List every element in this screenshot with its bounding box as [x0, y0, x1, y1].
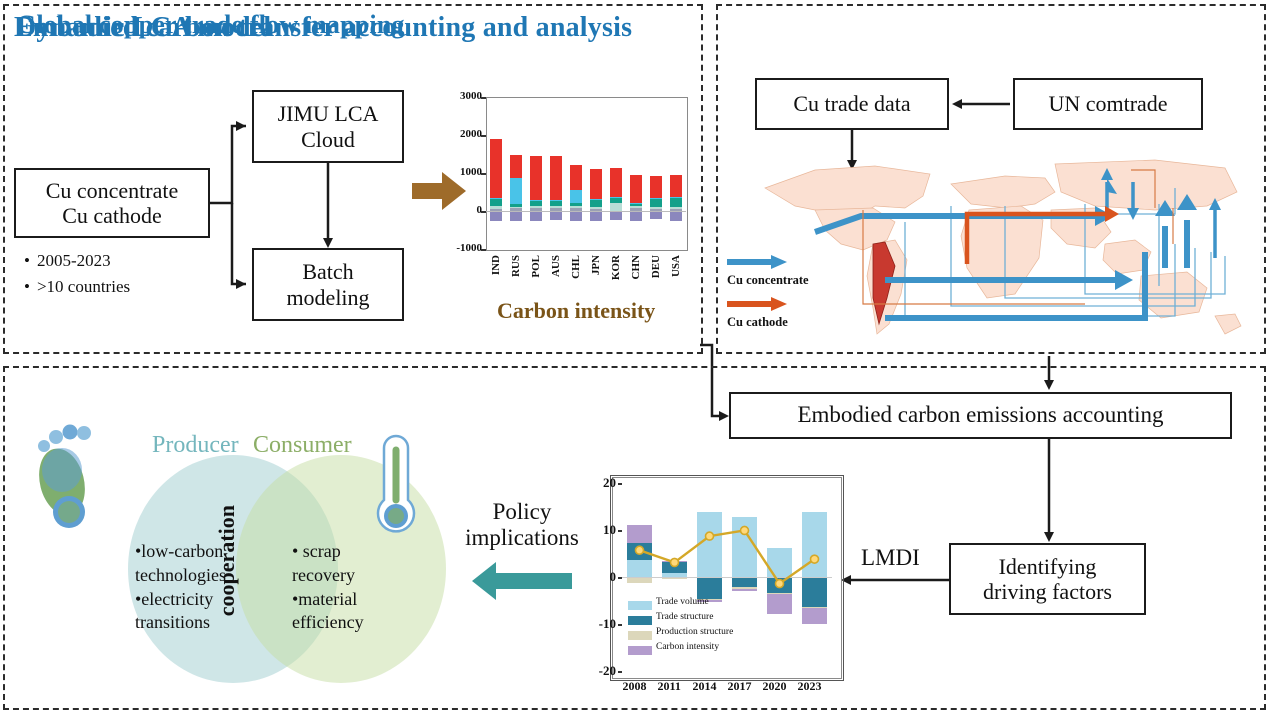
carbon-bar-segment	[530, 200, 542, 206]
box-embodied-carbon-emissions-accounting[interactable]: Embodied carbon emissions accounting	[729, 392, 1232, 439]
lmdi-bar-segment	[662, 561, 687, 573]
box-cu-concentrate-cathode[interactable]: Cu concentrate Cu cathode	[14, 168, 210, 238]
venn-producer-item-1: technologies	[135, 564, 226, 588]
carbon-bar-segment	[530, 211, 542, 221]
lmdi-bar-segment	[627, 543, 652, 560]
venn-producer-item-0: •low-carbon	[135, 540, 226, 564]
box-cu-label: Cu concentrate Cu cathode	[46, 178, 179, 229]
lmdi-xtick-2011: 2011	[658, 679, 681, 694]
map-legend-row-concentrate	[727, 254, 809, 271]
carbon-bar-segment	[590, 207, 602, 209]
lmdi-legend-swatch	[628, 646, 652, 655]
carbon-bar-segment	[490, 211, 502, 221]
lmdi-bar-segment	[627, 525, 652, 543]
carbon-bar-segment	[590, 211, 602, 221]
lmdi-bar-segment	[627, 560, 652, 577]
lmdi-ytick-20: 20	[588, 475, 616, 491]
lmdi-zero-line	[622, 577, 832, 578]
carbon-bar-segment	[630, 211, 642, 221]
carbon-bar-segment	[610, 197, 622, 198]
panel-title-embodied-carbon: Embodied carbon transfer accounting and …	[14, 12, 632, 44]
carbon-bar-segment	[510, 207, 522, 209]
box-cu-trade-data[interactable]: Cu trade data	[755, 78, 949, 130]
venn-consumer-item-0: • scrap	[292, 540, 364, 564]
lmdi-ytick-10: 10	[588, 522, 616, 538]
lmdi-ytick-mark	[618, 624, 622, 626]
lmdi-ytick--20: -20	[588, 663, 616, 679]
box-identifying-driving-factors[interactable]: Identifying driving factors	[949, 543, 1146, 615]
thermometer-icon	[352, 428, 418, 540]
carbon-bar-segment	[650, 198, 662, 199]
lmdi-bar-segment	[802, 512, 827, 577]
carbon-bar-segment	[590, 199, 602, 200]
carbon-bar-segment	[630, 175, 642, 204]
lmdi-bar-segment	[732, 577, 757, 587]
lmdi-bar-segment	[802, 608, 827, 624]
venn-producer-item-2: •electricity	[135, 588, 226, 612]
carbon-bar-segment	[650, 207, 662, 209]
lmdi-xtick-2023: 2023	[798, 679, 822, 694]
lmdi-ytick-mark	[618, 671, 622, 673]
map-legend-label-cathode: Cu cathode	[727, 315, 809, 330]
venn-consumer-item-1: recovery	[292, 564, 364, 588]
lmdi-bar-segment	[767, 548, 792, 577]
carbon-bar-segment	[490, 206, 502, 208]
carbon-ytick-1000: 1000	[438, 166, 482, 178]
carbon-bar-segment	[630, 203, 642, 204]
lmdi-bar-segment	[802, 577, 827, 607]
lmdi-ytick-mark	[618, 483, 622, 485]
carbon-bar-segment	[510, 211, 522, 221]
carbon-bar-segment	[570, 165, 582, 190]
lmdi-bar-segment	[732, 517, 757, 577]
carbon-ytick--1000: -1000	[438, 242, 482, 254]
box-un-comtrade[interactable]: UN comtrade	[1013, 78, 1203, 130]
lmdi-bar-segment	[697, 512, 722, 577]
carbon-bar-segment	[530, 200, 542, 201]
carbon-bar-segment	[610, 168, 622, 197]
carbon-bar-segment	[510, 155, 522, 179]
lmdi-legend-label: Trade volume	[656, 597, 709, 607]
lmdi-ytick-mark	[618, 530, 622, 532]
venn-title-consumer: Consumer	[253, 432, 352, 459]
lmdi-xtick-2014: 2014	[693, 679, 717, 694]
venn-producer-item-3: transitions	[135, 611, 226, 635]
carbon-bar-segment	[570, 203, 582, 206]
policy-implications-label: Policy implications	[452, 499, 592, 552]
box-un-comtrade-label: UN comtrade	[1048, 91, 1167, 116]
lmdi-arrow-label: LMDI	[861, 545, 920, 571]
carbon-bar-segment	[590, 169, 602, 199]
carbon-bar-segment	[550, 156, 562, 200]
lmdi-xtick-2008: 2008	[623, 679, 647, 694]
carbon-bar-segment	[610, 198, 622, 203]
venn-consumer-items: • scrap recovery •material efficiency	[292, 540, 364, 635]
venn-consumer-item-3: efficiency	[292, 611, 364, 635]
carbon-bar-segment	[570, 211, 582, 221]
lmdi-xtick-2020: 2020	[763, 679, 787, 694]
box-driving-label: Identifying driving factors	[983, 554, 1112, 605]
world-map-trade-flows	[755, 148, 1255, 343]
carbon-ytick-2000: 2000	[438, 128, 482, 140]
lmdi-bar-segment	[697, 577, 722, 599]
carbon-bar-segment	[510, 178, 522, 204]
lmdi-xtick-2017: 2017	[728, 679, 752, 694]
carbon-bar-segment	[610, 211, 622, 220]
carbon-xtick-POL: POL	[530, 255, 542, 278]
venn-title-producer: Producer	[152, 432, 239, 459]
carbon-xtick-JPN: JPN	[590, 255, 602, 275]
lmdi-bar-segment	[767, 577, 792, 593]
carbon-bar-segment	[550, 201, 562, 207]
carbon-bar-segment	[530, 206, 542, 208]
carbon-xtick-DEU: DEU	[650, 255, 662, 278]
lmdi-legend-label: Trade structure	[656, 612, 713, 622]
carbon-bar-segment	[630, 204, 642, 206]
lmdi-legend-swatch	[628, 631, 652, 640]
lca-bullet-years: 2005-2023	[24, 248, 130, 274]
carbon-bar-segment	[550, 206, 562, 208]
carbon-bar-segment	[510, 204, 522, 207]
lca-bullet-countries: >10 countries	[24, 274, 130, 300]
carbon-bar-segment	[490, 139, 502, 198]
carbon-bar-segment	[530, 156, 542, 200]
carbon-xtick-KOR: KOR	[610, 255, 622, 280]
cu-concentrate-arrow-icon	[727, 254, 789, 270]
carbon-bar-segment	[650, 211, 662, 219]
lmdi-legend-label: Production structure	[656, 627, 733, 637]
lmdi-ytick-0: 0	[588, 569, 616, 585]
carbon-xtick-IND: IND	[490, 255, 502, 275]
venn-producer-items: •low-carbon technologies •electricity tr…	[135, 540, 226, 635]
lca-bullet-list: 2005-2023 >10 countries	[24, 248, 130, 299]
lmdi-ytick--10: -10	[588, 616, 616, 632]
carbon-ytick-0: 0	[438, 204, 482, 216]
lmdi-bar-segment	[767, 594, 792, 614]
carbon-footprint-icon	[22, 420, 112, 535]
box-jimu-label: JIMU LCA Cloud	[278, 101, 379, 152]
box-emissions-label: Embodied carbon emissions accounting	[797, 402, 1163, 428]
carbon-bar-segment	[570, 206, 582, 208]
carbon-bar-segment	[490, 198, 502, 199]
lmdi-legend-swatch	[628, 616, 652, 625]
carbon-bar-segment	[490, 199, 502, 207]
map-legend-label-concentrate: Cu concentrate	[727, 273, 809, 288]
policy-arrow-icon	[470, 562, 574, 602]
lmdi-legend-label: Carbon intensity	[656, 642, 719, 652]
box-jimu-lca-cloud[interactable]: JIMU LCA Cloud	[252, 90, 404, 163]
box-batch-modeling[interactable]: Batch modeling	[252, 248, 404, 321]
carbon-ytick-3000: 3000	[438, 90, 482, 102]
carbon-bar-segment	[650, 176, 662, 198]
carbon-bar-segment	[670, 211, 682, 221]
carbon-intensity-caption: Carbon intensity	[497, 298, 655, 324]
carbon-bar-segment	[650, 199, 662, 208]
carbon-bar-segment	[670, 207, 682, 209]
lmdi-bar-segment	[732, 589, 757, 591]
box-batch-label: Batch modeling	[286, 259, 369, 310]
carbon-bar-segment	[670, 197, 682, 198]
carbon-bar-segment	[550, 211, 562, 220]
map-legend: Cu concentrate Cu cathode	[727, 254, 809, 338]
venn-consumer-item-2: •material	[292, 588, 364, 612]
carbon-bar-segment	[570, 190, 582, 204]
carbon-ytick-mark	[481, 135, 486, 137]
carbon-ytick-mark	[481, 173, 486, 175]
carbon-zero-line	[486, 211, 686, 212]
carbon-xtick-USA: USA	[670, 255, 682, 277]
carbon-bar-segment	[630, 206, 642, 208]
carbon-bar-segment	[550, 200, 562, 201]
carbon-xtick-AUS: AUS	[550, 255, 562, 277]
carbon-bar-segment	[670, 175, 682, 197]
carbon-ytick-mark	[481, 249, 486, 251]
carbon-bar-segment	[610, 203, 622, 211]
lmdi-bar-segment	[662, 561, 687, 563]
carbon-xtick-RUS: RUS	[510, 255, 522, 277]
cu-cathode-arrow-icon	[727, 296, 789, 312]
carbon-bar-segment	[670, 198, 682, 207]
carbon-bar-segment	[590, 200, 602, 207]
carbon-ytick-mark	[481, 97, 486, 99]
lmdi-legend-swatch	[628, 601, 652, 610]
carbon-xtick-CHN: CHN	[630, 255, 642, 279]
map-legend-row-cathode	[727, 296, 809, 313]
box-cu-trade-label: Cu trade data	[793, 91, 910, 116]
carbon-xtick-CHL: CHL	[570, 255, 582, 279]
